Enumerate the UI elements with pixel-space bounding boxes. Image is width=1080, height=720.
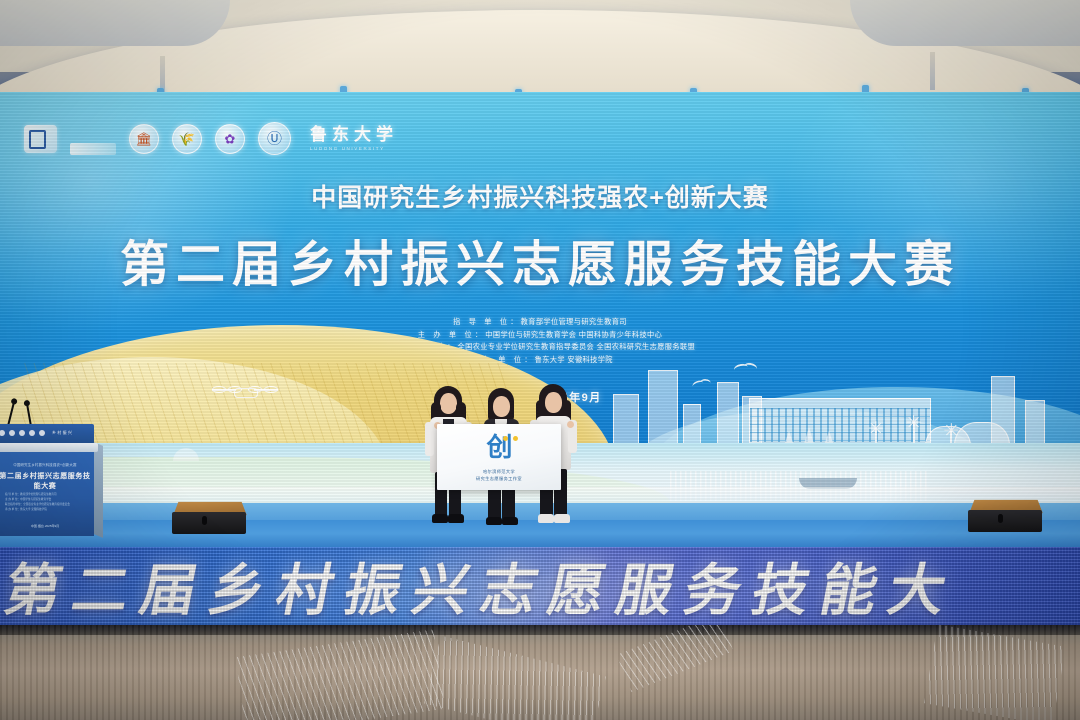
hand-right xyxy=(567,421,574,428)
ceiling-corner-right xyxy=(850,0,1080,46)
podium-line: 承 办 单 位：鲁东大学 安徽科技学院 xyxy=(5,507,70,512)
flag-line-1: 哈尔滨师范大学 xyxy=(437,469,561,475)
shoe-right xyxy=(554,514,570,523)
drone-icon xyxy=(212,384,278,400)
podium-title: 第二届乡村振兴志愿服务技能大赛 xyxy=(0,471,94,491)
backdrop-city-skyline xyxy=(583,359,1080,451)
auditorium-floor xyxy=(0,625,1080,720)
shoe-right xyxy=(448,514,464,523)
organizer-value: 中国学位与研究生教育学会 中国科协青少年科技中心 xyxy=(485,330,662,339)
drone-rotor xyxy=(264,386,278,393)
podium-top-panel: 乡村振兴 xyxy=(0,424,94,444)
stage-monitor-speaker-left xyxy=(172,500,246,534)
academic-society-emblem-icon: 🏛 xyxy=(129,124,159,154)
ceiling-strut xyxy=(930,52,935,90)
skyline-building xyxy=(717,382,739,451)
arm-left xyxy=(425,422,434,456)
drone-rotor xyxy=(228,386,242,393)
speaker-face xyxy=(172,512,246,534)
shoe-left xyxy=(538,514,554,523)
competition-emblem-icon xyxy=(24,125,57,153)
shoe-left xyxy=(432,514,448,523)
science-association-emblem-icon: 🌾 xyxy=(172,124,202,154)
drone-rotor xyxy=(248,386,262,393)
ceiling-strut xyxy=(160,56,165,92)
organizer-value: 全国农业专业学位研究生教育指导委员会 全国农科研究生志愿服务联盟 xyxy=(458,342,696,351)
university-name-cn: 鲁东大学 xyxy=(310,126,398,143)
speaker-handle xyxy=(202,516,207,525)
auditorium-ceiling xyxy=(0,0,1080,96)
organizer-row: 指 导 单 位：教育部学位管理与研究生教育司 xyxy=(0,316,1080,329)
organizer-label: 主 办 单 位： xyxy=(418,330,486,339)
stage-photo-scene: 🏛 🌾 ✿ Ⓤ 鲁东大学 LUDONG UNIVERSITY 中国研究生乡村振兴… xyxy=(0,0,1080,720)
head xyxy=(545,392,562,413)
podium-subtitle: 中国研究生乡村振兴科技强农+创新大赛 xyxy=(0,462,94,467)
held-banner-flag: 创 哈尔滨师范大学 研究生志愿服务工作室 xyxy=(437,424,561,490)
flag-line-2: 研究生志愿服务工作室 xyxy=(437,476,561,482)
backdrop-main-title: 第二届乡村振兴志愿服务技能大赛 xyxy=(0,225,1080,296)
ludong-university-emblem-icon: Ⓤ xyxy=(258,122,291,155)
flag-accent-dot xyxy=(503,436,508,441)
university-name-block: 鲁东大学 LUDONG UNIVERSITY xyxy=(310,126,398,151)
speaker-handle xyxy=(998,514,1003,523)
podium-side xyxy=(94,442,103,538)
skyline-building xyxy=(648,370,678,451)
podium-logo-dot xyxy=(0,430,5,436)
podium-logo-row: 乡村振兴 xyxy=(0,430,73,436)
drone-rotor xyxy=(212,386,226,393)
organizer-value: 教育部学位管理与研究生教育司 xyxy=(521,317,627,326)
podium-logo-dot xyxy=(9,430,15,436)
university-name-en: LUDONG UNIVERSITY xyxy=(310,146,398,151)
podium-date: 中国·烟台·2025年9月 xyxy=(0,524,94,528)
podium-lip xyxy=(0,443,98,452)
podium-logo-dot xyxy=(29,430,35,436)
speaker-podium: 乡村振兴 中国研究生乡村振兴科技强农+创新大赛 第二届乡村振兴志愿服务技能大赛 … xyxy=(0,424,100,536)
podium-logo-dot xyxy=(39,430,45,436)
head xyxy=(440,393,457,414)
speaker-face xyxy=(968,510,1042,532)
led-banner-scanlines xyxy=(0,547,1080,625)
sponsor-logo-row: 🏛 🌾 ✿ Ⓤ 鲁东大学 LUDONG UNIVERSITY xyxy=(24,122,398,155)
backdrop-subtitle: 中国研究生乡村振兴科技强农+创新大赛 xyxy=(0,178,1080,214)
flag-logo: 创 xyxy=(437,435,561,461)
agriculture-emblem-icon: ✿ xyxy=(215,124,245,154)
podium-organizer-lines: 指 导 单 位：教育部学位管理与研究生教育司 主 办 单 位：中国学位与研究生教… xyxy=(5,492,70,512)
shoe-left xyxy=(486,517,502,525)
stage-front-led-banner: 第二届乡村振兴志愿服务技能大 xyxy=(0,547,1080,625)
podium-logo-dot xyxy=(19,430,25,436)
competition-emblem-tag xyxy=(70,143,116,155)
podium-front-panel: 中国研究生乡村振兴科技强农+创新大赛 第二届乡村振兴志愿服务技能大赛 指 导 单… xyxy=(0,452,94,536)
podium-top-text: 乡村振兴 xyxy=(52,430,73,436)
organizer-label: 指 导 单 位： xyxy=(453,317,521,326)
head xyxy=(493,396,510,417)
flag-accent-dot xyxy=(513,436,518,441)
ceiling-corner-left xyxy=(0,0,230,46)
stage-monitor-speaker-right xyxy=(968,498,1042,532)
shoe-right xyxy=(502,517,518,525)
